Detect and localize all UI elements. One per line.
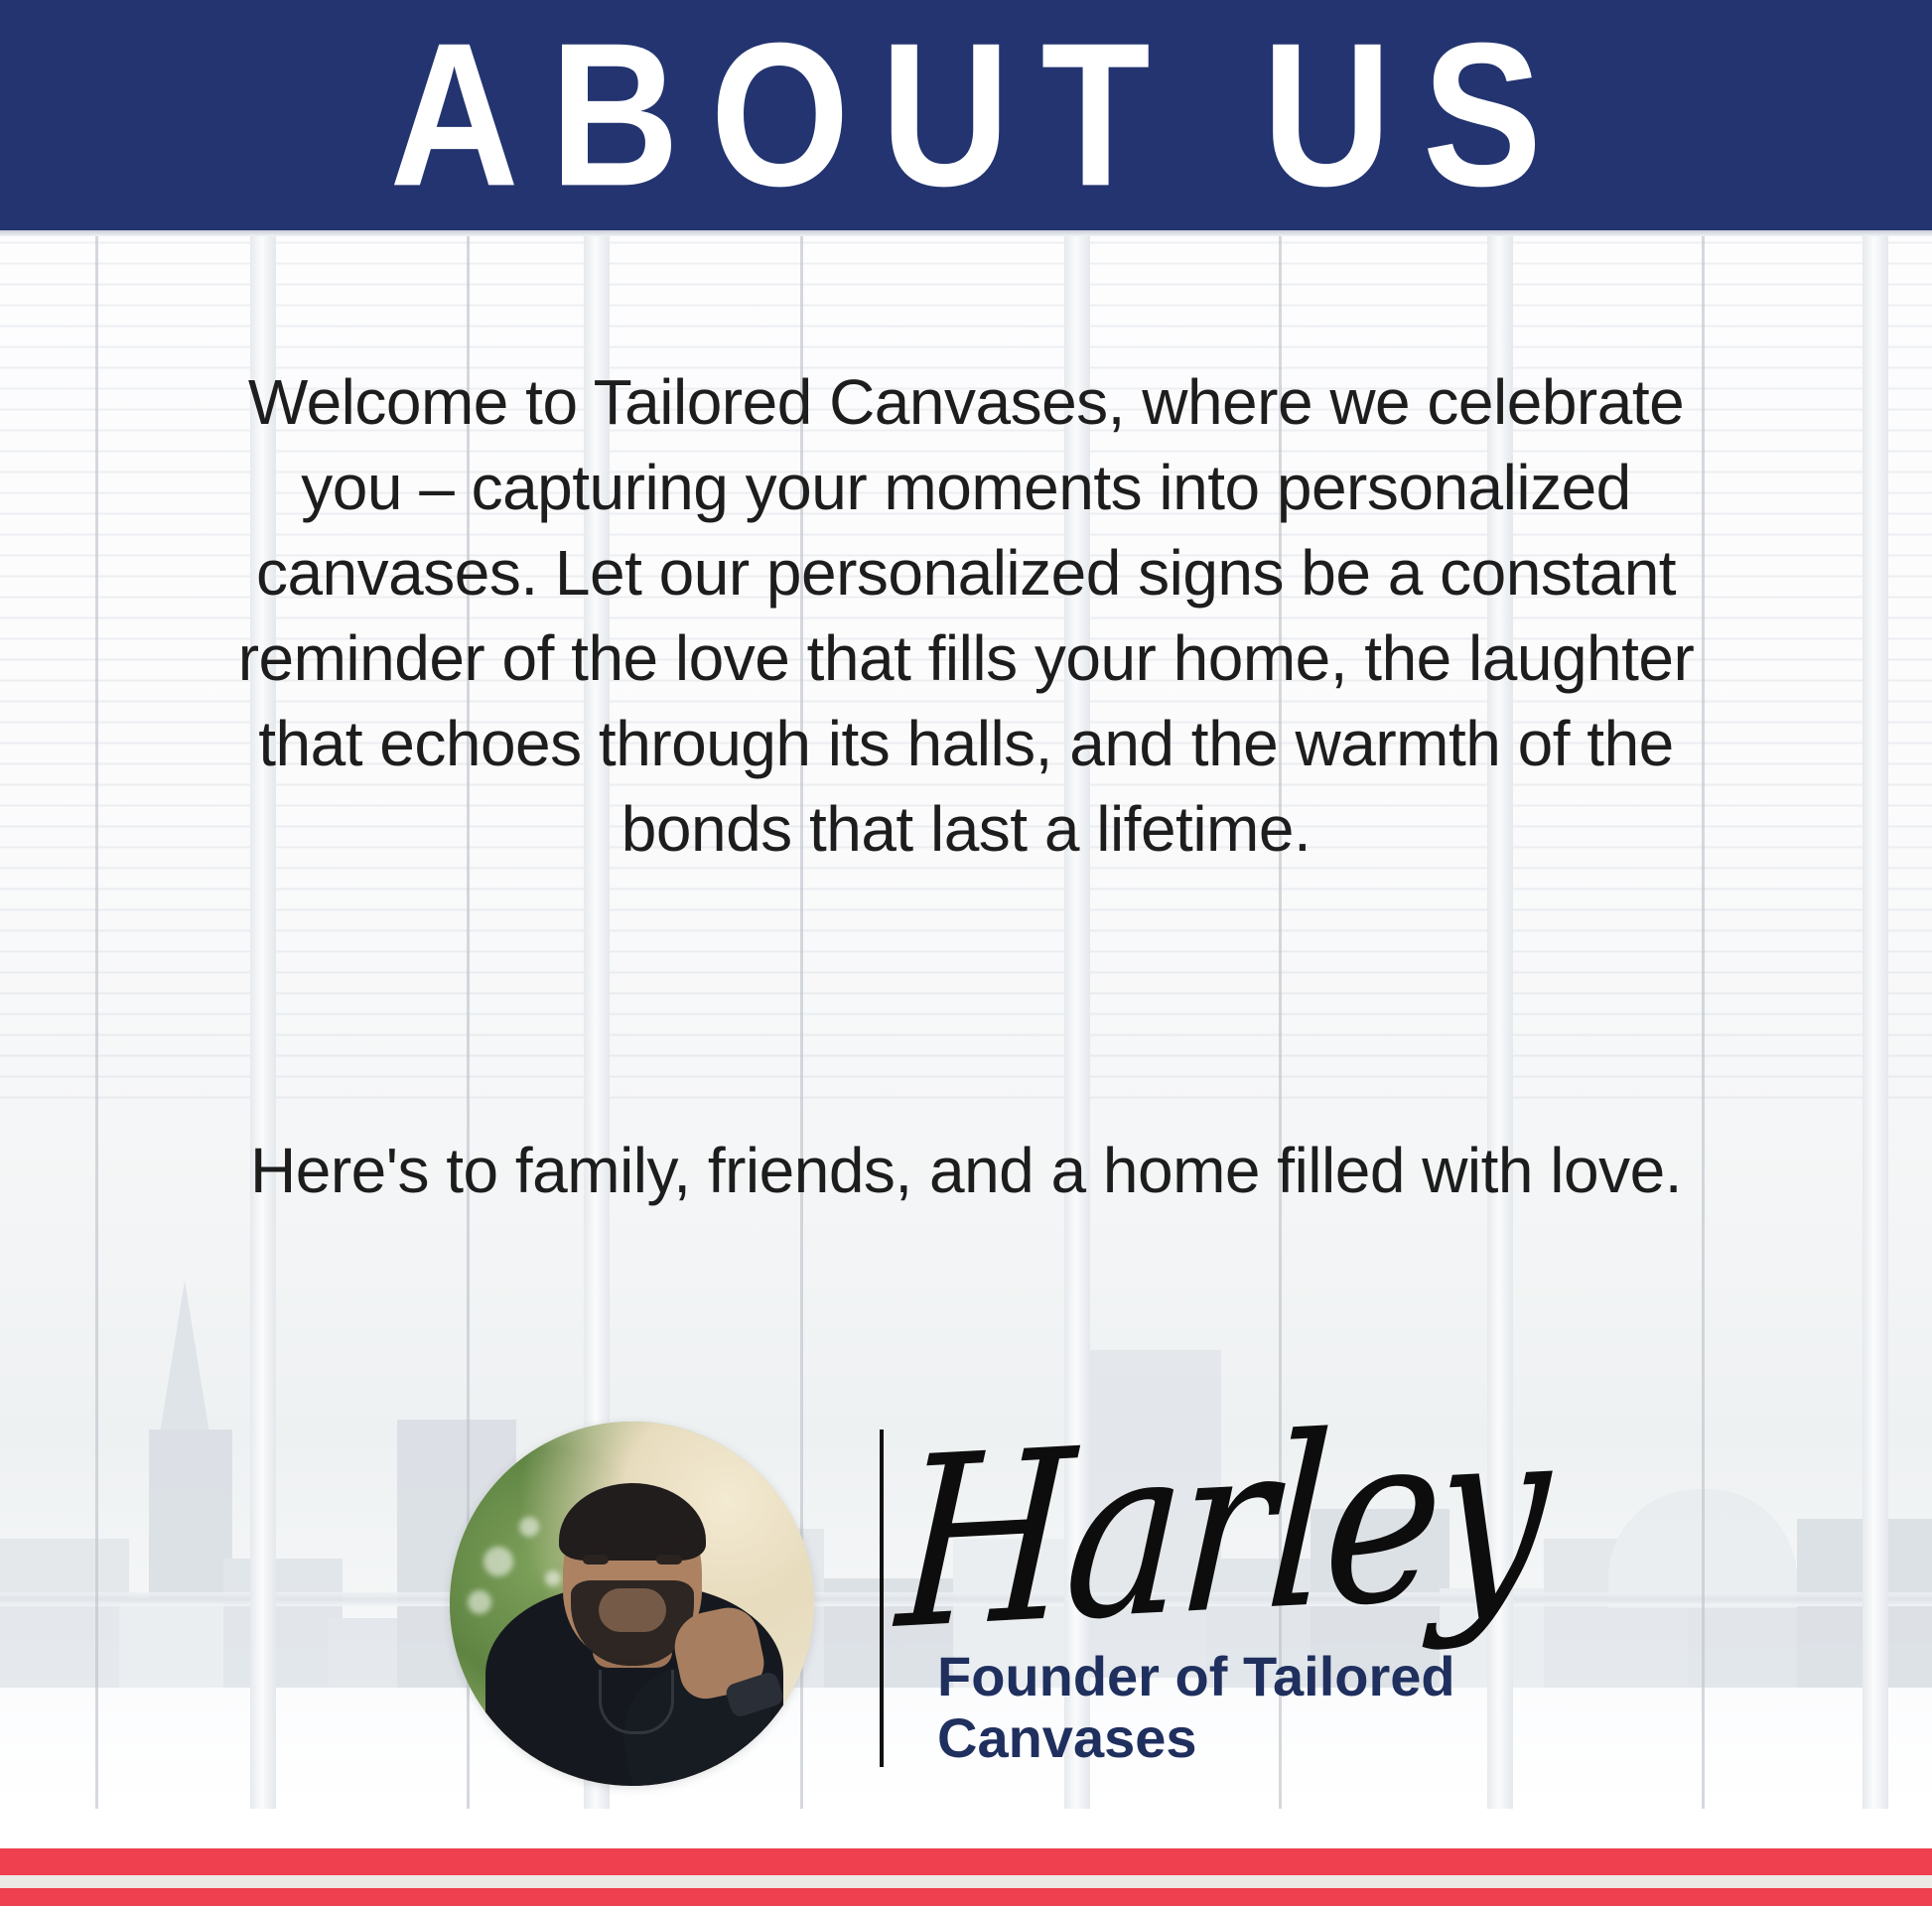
avatar-eye-left (583, 1555, 609, 1565)
header-band: ABOUT US (0, 0, 1932, 230)
footer-bar-gap (0, 1875, 1932, 1888)
header-underline (0, 230, 1932, 236)
about-copy: Welcome to Tailored Canvases, where we c… (211, 274, 1721, 1298)
page-title: ABOUT US (358, 11, 1573, 219)
about-paragraph-1: Welcome to Tailored Canvases, where we c… (211, 359, 1721, 872)
footer-bar-bottom (0, 1888, 1932, 1906)
founder-role: Founder of Tailored Canvases (937, 1646, 1573, 1769)
avatar (450, 1422, 814, 1786)
about-us-poster: ABOUT US Welcome to Tailored Canvases, w… (0, 0, 1932, 1906)
footer-bar-top (0, 1848, 1932, 1875)
paragraph-spacer (211, 957, 1721, 1042)
about-paragraph-2: Here's to family, friends, and a home fi… (211, 1128, 1721, 1213)
founder-divider (880, 1429, 884, 1767)
avatar-chin-highlight (599, 1588, 666, 1632)
avatar-eye-right (656, 1555, 682, 1565)
avatar-necklace (599, 1670, 674, 1734)
founder-block: Harley Founder of Tailored Canvases (0, 1410, 1932, 1807)
